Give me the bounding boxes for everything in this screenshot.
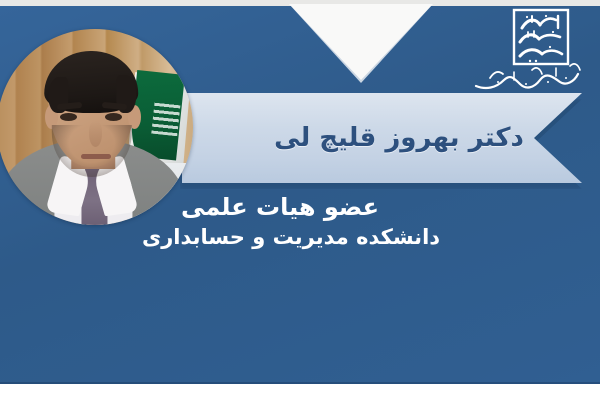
university-logo-icon bbox=[470, 4, 590, 96]
mouth bbox=[81, 154, 111, 159]
name-ribbon: دکتر بهروز قلیچ لی bbox=[182, 93, 582, 183]
nose bbox=[89, 121, 102, 147]
portrait-avatar bbox=[0, 29, 193, 225]
faculty-name: دانشکده مدیریت و حسابداری bbox=[0, 224, 600, 251]
profile-banner-card: دکتر بهروز قلیچ لی bbox=[0, 0, 600, 400]
person-name: دکتر بهروز قلیچ لی bbox=[182, 93, 582, 183]
eye-left bbox=[60, 113, 77, 121]
iran-flag-emblem bbox=[151, 100, 180, 137]
portrait-image bbox=[0, 29, 193, 225]
eye-right bbox=[105, 113, 122, 121]
bottom-white-band bbox=[0, 384, 600, 400]
